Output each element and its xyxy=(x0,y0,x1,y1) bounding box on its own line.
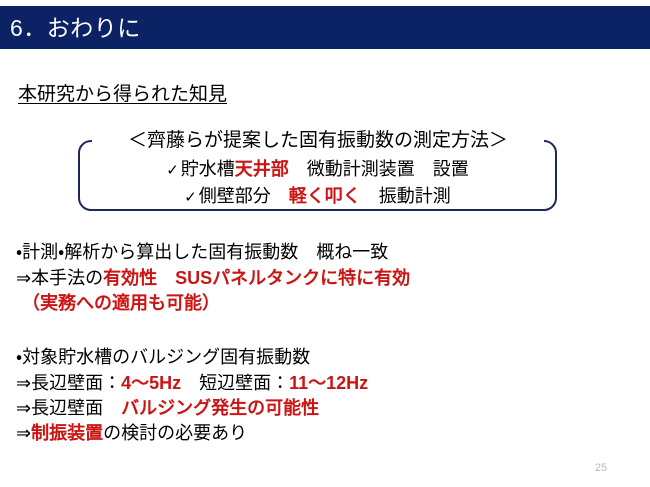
bulging-bullet-line: ・対象貯水槽のバルジング固有振動数 xyxy=(16,345,310,369)
findings-conclusion-line: ⇒本手法の有効性 SUSパネルタンクに特に有効 xyxy=(16,266,410,290)
method-line-emphasis: 天井部 xyxy=(235,159,289,179)
findings-bullet-line: ・計測・解析から算出した固有振動数 概ね一致 xyxy=(16,240,388,264)
slide-canvas: 6．おわりに 本研究から得られた知見 ＜齊藤らが提案した固有振動数の測定方法＞ … xyxy=(0,0,650,487)
check-icon: ✓ xyxy=(184,189,199,206)
findings-conclusion-prefix: ⇒本手法の xyxy=(16,268,103,288)
findings-note-line: （実務への適用も可能） xyxy=(22,291,220,315)
bulging-risk-line: ⇒長辺壁面 バルジング発生の可能性 xyxy=(16,396,319,420)
slide-header-bar: 6．おわりに xyxy=(0,6,650,49)
arrow-icon: ⇒ xyxy=(16,423,31,443)
bulging-recommendation-line: ⇒制振装置の検討の必要あり xyxy=(16,421,247,445)
method-line-text-before: 貯水槽 xyxy=(181,159,235,179)
bulging-frequency-line: ⇒長辺壁面：4〜5Hz 短辺壁面：11〜12Hz xyxy=(16,371,368,395)
bulging-recommendation-suffix: の検討の必要あり xyxy=(103,423,247,443)
method-box-title: ＜齊藤らが提案した固有振動数の測定方法＞ xyxy=(92,128,544,153)
findings-note-emphasis: （実務への適用も可能） xyxy=(22,293,220,313)
method-line-text-after: 微動計測装置 設置 xyxy=(289,159,469,179)
section-heading: 本研究から得られた知見 xyxy=(18,82,227,108)
method-line-emphasis: 軽く叩く xyxy=(289,186,361,206)
bulging-long-wall-value: 4〜5Hz xyxy=(121,373,181,393)
method-box-line: ✓貯水槽天井部 微動計測装置 設置 xyxy=(78,157,557,183)
page-number: 25 xyxy=(586,461,616,475)
bulging-risk-prefix: ⇒長辺壁面 xyxy=(16,398,121,418)
bulging-risk-emphasis: バルジング発生の可能性 xyxy=(121,398,319,418)
bulging-short-wall-label: 短辺壁面： xyxy=(181,373,289,393)
bulging-recommendation-emphasis: 制振装置 xyxy=(31,423,103,443)
bulging-long-wall-label: ⇒長辺壁面： xyxy=(16,373,121,393)
check-icon: ✓ xyxy=(166,162,181,179)
slide-title: 6．おわりに xyxy=(10,14,141,42)
method-box-line: ✓側壁部分 軽く叩く 振動計測 xyxy=(78,184,557,210)
method-line-text-after: 振動計測 xyxy=(361,186,451,206)
findings-conclusion-emphasis: 有効性 SUSパネルタンクに特に有効 xyxy=(103,268,410,288)
bulging-short-wall-value: 11〜12Hz xyxy=(289,373,368,393)
method-line-text-before: 側壁部分 xyxy=(199,186,289,206)
